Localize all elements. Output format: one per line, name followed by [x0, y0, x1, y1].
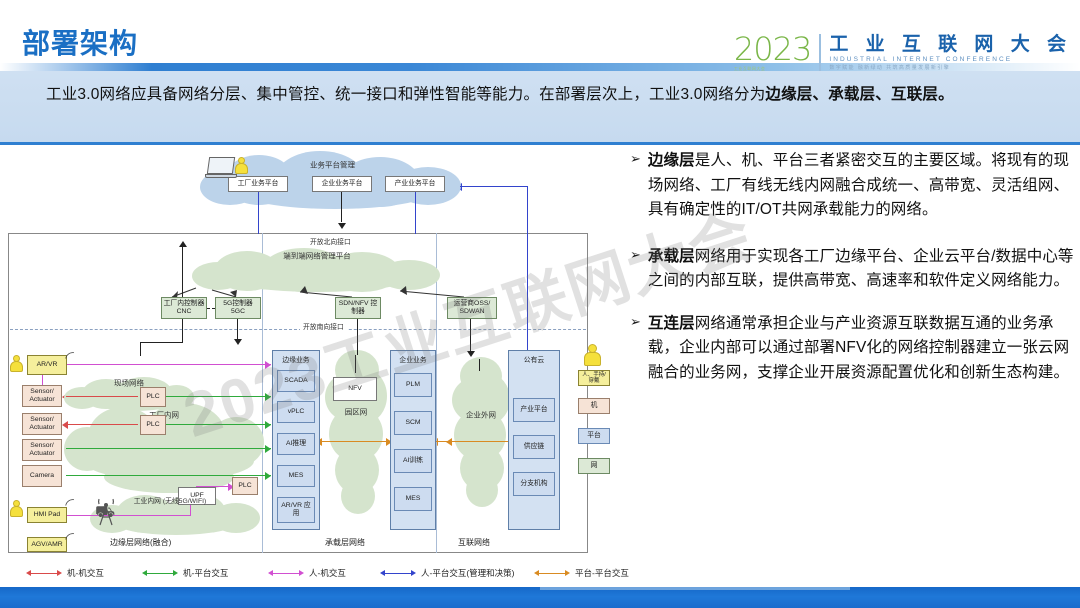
field-network-label: 现场网络: [64, 378, 194, 389]
box-cnc-controller[interactable]: 工厂内控制器CNC: [161, 297, 207, 319]
legend-item-platform-platform: 平台-平台交互: [534, 567, 629, 579]
intro-band: 工业3.0网络应具备网络分层、集中管控、统一接口和弹性智能等能力。在部署层次上，…: [0, 71, 1080, 143]
slide-footer: [0, 587, 1080, 608]
legend-swatch-5: [534, 569, 570, 577]
bullet-bold-3: 互连层: [648, 315, 695, 332]
layer-label-interconnect: 互联网络: [458, 537, 490, 548]
arrow-into-nfv: [355, 355, 356, 373]
arrow-enterprise-to-north: [341, 192, 342, 222]
box-sensor-actuator-2[interactable]: Sensor/ Actuator: [22, 413, 62, 435]
network-management-cloud-label: 端到端网络管理平台: [192, 251, 442, 262]
bullet-text-1: 是人、机、平台三者紧密交互的主要区域。将现有的现场网络、工厂有线无线内网融合成统…: [648, 152, 1069, 218]
legend-item-machine-platform: 机-平台交互: [142, 567, 228, 579]
arrow-sensor3-edge: [66, 448, 271, 449]
box-supply-chain[interactable]: 供应链: [513, 435, 555, 459]
legend-label-1: 机-机交互: [67, 567, 104, 579]
key-person-label: 人、手持/ 穿戴: [578, 370, 610, 386]
person-icon-operator: [235, 157, 248, 174]
legend-label-3: 人-机交互: [309, 567, 346, 579]
arrow-cnc-up: [182, 244, 183, 297]
bullet-text-2: 网络用于实现各工厂边缘平台、企业云平台/数据中心等之间的内部互联，提供高带宽、高…: [648, 248, 1074, 290]
architecture-diagram: 业务平台管理 工厂业务平台 企业业务平台 产业业务平台 开放北向接口: [0, 145, 618, 565]
intro-bold: 边缘层、承载层、互联层。: [765, 86, 953, 103]
box-plc-3[interactable]: PLC: [232, 477, 258, 495]
bullet-bold-2: 承载层: [648, 248, 695, 265]
key-network-label: 网: [578, 458, 610, 474]
arrow-arvr-sensor: [42, 375, 43, 385]
box-5g-controller[interactable]: 5G控制器 5GC: [215, 297, 261, 319]
box-sensor-actuator-1[interactable]: Sensor/ Actuator: [22, 385, 62, 407]
arrow-cnc-to-field-h: [140, 342, 182, 343]
layer-label-edge: 边缘层网络(融合): [110, 537, 171, 548]
box-scm[interactable]: SCM: [394, 411, 432, 435]
south-interface-label: 开放南向接口: [300, 321, 347, 331]
interaction-legend: 机-机交互 机-平台交互 人-机交互 人-平台交互(管理和决策) 平台-: [0, 565, 1080, 587]
arrow-cloud-right-h: [460, 186, 527, 187]
box-enterprise-mes[interactable]: MES: [394, 487, 432, 511]
laptop-icon: [208, 157, 237, 178]
box-sensor-actuator-3[interactable]: Sensor/ Actuator: [22, 439, 62, 461]
person-icon-hmi-user: [10, 500, 23, 517]
key-machine-label: 机: [578, 398, 610, 414]
campus-network-label: 园区网: [325, 407, 387, 418]
extranet-label: 企业外网: [452, 410, 510, 421]
arrow-sdn-down: [357, 319, 358, 355]
arrow-edge-campus: [320, 441, 390, 442]
arrow-cnc-field-drop: [140, 342, 141, 356]
legend-item-person-platform: 人-平台交互(管理和决策): [380, 567, 515, 579]
box-enterprise-business-platform[interactable]: 企业业务平台: [312, 176, 372, 192]
layer-label-bearer: 承载层网络: [325, 537, 365, 548]
bullet-bold-1: 边缘层: [648, 152, 695, 169]
arrow-sensor1-plc1: [66, 396, 138, 397]
logo-year: 2023: [734, 34, 811, 64]
legend-swatch-4: [380, 569, 416, 577]
box-ai-inference[interactable]: AI推理: [277, 433, 315, 455]
arrow-5gc-down: [237, 319, 238, 341]
legend-label-2: 机-平台交互: [183, 567, 228, 579]
bullet-item-interconnect: ➢ 互连层网络通常承担企业与产业资源互联数据互通的业务承载，企业内部可以通过部署…: [622, 312, 1080, 386]
arrow-sdwan-down: [470, 319, 471, 355]
bullet-marker-3: ➢: [630, 314, 641, 386]
arrow-into-extranet: [479, 359, 480, 371]
legend-label-4: 人-平台交互(管理和决策): [421, 567, 515, 579]
box-branch-office[interactable]: 分支机构: [513, 472, 555, 496]
logo-tagline: 数字赋能 融新绿动 共筑高质量发展新引擎: [829, 64, 1072, 71]
bullet-item-bearer: ➢ 承载层网络用于实现各工厂边缘平台、企业云平台/数据中心等之间的内部互联，提供…: [622, 245, 1080, 294]
skyline-graphic: [540, 587, 850, 590]
box-plc-1[interactable]: PLC: [140, 387, 166, 407]
arrow-plc2-edge: [166, 424, 271, 425]
person-icon-arvr-user: [10, 355, 23, 372]
box-arvr-device[interactable]: AR/VR: [27, 355, 67, 375]
box-ai-training[interactable]: AI训练: [394, 449, 432, 473]
logo-name-cn: 工 业 互 联 网 大 会: [829, 34, 1072, 55]
box-industry-business-platform[interactable]: 产业业务平台: [385, 176, 445, 192]
box-scada[interactable]: SCADA: [277, 370, 315, 392]
bullet-text-3: 网络通常承担企业与产业资源互联数据互通的业务承载，企业内部可以通过部署NFV化的…: [648, 315, 1069, 381]
box-sdn-nfv-controller[interactable]: SDN/NFV 控制器: [335, 297, 381, 319]
south-interface-line: [10, 329, 586, 330]
arrow-sensor2-plc2: [66, 424, 138, 425]
arrowhead-down-2: [338, 223, 346, 229]
bullet-marker-1: ➢: [630, 151, 641, 223]
box-vplc[interactable]: vPLC: [277, 401, 315, 423]
key-person-icon: [584, 344, 601, 366]
box-plm[interactable]: PLM: [394, 373, 432, 397]
page-title: 部署架构: [22, 22, 138, 62]
campus-network-cloud: 园区网: [325, 350, 387, 515]
legend-item-person-machine: 人-机交互: [268, 567, 346, 579]
edge-services-title: 边缘业务: [273, 354, 319, 364]
key-platform-label: 平台: [578, 428, 610, 444]
arrow-industry-to-north: [415, 192, 416, 234]
arrow-cloud-right-v: [527, 186, 528, 359]
arrow-camera-edge: [66, 475, 271, 476]
box-plc-2[interactable]: PLC: [140, 415, 166, 435]
legend-swatch-3: [268, 569, 304, 577]
arrow-plc1-edge: [166, 396, 271, 397]
logo-name-en: INDUSTRIAL INTERNET CONFERENCE: [829, 56, 1072, 63]
north-interface-label: 开放北向接口: [310, 236, 351, 246]
arrow-arvr-edge: [67, 364, 271, 365]
arrow-factory-to-north: [258, 192, 259, 234]
main-content: 业务平台管理 工厂业务平台 企业业务平台 产业业务平台 开放北向接口: [0, 145, 1080, 575]
box-industry-platform[interactable]: 产业平台: [513, 398, 555, 422]
industrial-network-label: 工业内网 (无线5G/WIFI): [125, 497, 215, 506]
network-management-cloud: 端到端网络管理平台: [192, 248, 442, 293]
legend-label-5: 平台-平台交互: [575, 567, 629, 579]
public-cloud-title: 公有云: [509, 354, 559, 364]
intro-text: 工业3.0网络应具备网络分层、集中管控、统一接口和弹性智能等能力。在部署层次上，…: [46, 86, 765, 103]
bullet-list: ➢ 边缘层是人、机、平台三者紧密交互的主要区域。将现有的现场网络、工厂有线无线内…: [622, 145, 1080, 570]
arrow-upf-up: [190, 505, 191, 516]
box-factory-business-platform[interactable]: 工厂业务平台: [228, 176, 288, 192]
box-agv-amr[interactable]: AGV/AMR: [27, 537, 67, 552]
extranet-cloud: 企业外网: [452, 357, 510, 507]
box-edge-mes[interactable]: MES: [277, 465, 315, 487]
enterprise-services-title: 企业业务: [391, 354, 435, 364]
box-hmi-pad[interactable]: HMI Pad: [27, 507, 67, 523]
box-operator-sdwan[interactable]: 运营商OSS/ SDWAN: [447, 297, 497, 319]
bullet-marker-2: ➢: [630, 247, 641, 294]
legend-item-machine-machine: 机-机交互: [26, 567, 104, 579]
bullet-item-edge: ➢ 边缘层是人、机、平台三者紧密交互的主要区域。将现有的现场网络、工厂有线无线内…: [622, 149, 1080, 223]
box-nfv[interactable]: NFV: [333, 377, 377, 401]
box-camera[interactable]: Camera: [22, 465, 62, 487]
arrow-cnc-field: [182, 319, 183, 343]
legend-swatch-1: [26, 569, 62, 577]
legend-swatch-2: [142, 569, 178, 577]
box-arvr-app[interactable]: AR/VR 应用: [277, 497, 315, 523]
logo-divider: [819, 34, 821, 72]
arrow-between-controllers: [207, 308, 215, 309]
